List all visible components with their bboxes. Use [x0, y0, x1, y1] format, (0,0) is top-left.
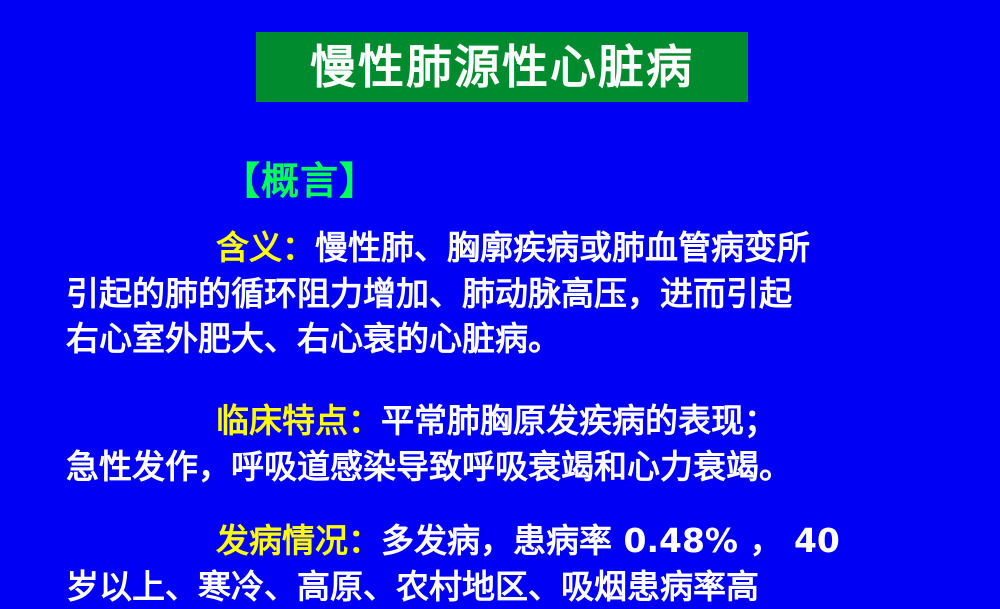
epidemiology-line-1: 发病情况：多发病，患病率 0.48% ， 40 [66, 518, 966, 564]
content-block-definition: 含义：慢性肺、胸廓疾病或肺血管病变所 引起的肺的循环阻力增加、肺动脉高压，进而引… [66, 225, 966, 362]
definition-separator: ： [282, 228, 315, 267]
clinical-line-1: 临床特点：平常肺胸原发疾病的表现； [66, 398, 966, 444]
definition-line-3: 右心室外肥大、右心衰的心脏病。 [66, 316, 966, 362]
clinical-lead: 临床特点 [216, 401, 348, 440]
epidemiology-separator: ： [348, 521, 381, 560]
content-block-epidemiology: 发病情况：多发病，患病率 0.48% ， 40 岁以上、寒冷、高原、农村地区、吸… [66, 518, 966, 609]
epidemiology-text-1: 多发病，患病率 0.48% ， 40 [381, 521, 840, 560]
definition-line-1: 含义：慢性肺、胸廓疾病或肺血管病变所 [66, 225, 966, 271]
clinical-text-1: 平常肺胸原发疾病的表现； [381, 401, 777, 440]
epidemiology-lead: 发病情况 [216, 521, 348, 560]
clinical-separator: ： [348, 401, 381, 440]
definition-lead: 含义 [216, 228, 282, 267]
slide-title: 慢性肺源性心脏病 [310, 44, 694, 90]
content-block-clinical-features: 临床特点：平常肺胸原发疾病的表现； 急性发作，呼吸道感染导致呼吸衰竭和心力衰竭。 [66, 398, 966, 489]
definition-line-2: 引起的肺的循环阻力增加、肺动脉高压，进而引起 [66, 271, 966, 317]
section-heading: 【概言】 [222, 150, 378, 205]
slide-title-box: 慢性肺源性心脏病 [256, 32, 748, 102]
epidemiology-line-2: 岁以上、寒冷、高原、农村地区、吸烟患病率高 [66, 564, 966, 609]
clinical-line-2: 急性发作，呼吸道感染导致呼吸衰竭和心力衰竭。 [66, 444, 966, 490]
definition-text-1: 慢性肺、胸廓疾病或肺血管病变所 [315, 228, 810, 267]
slide-canvas: 慢性肺源性心脏病 【概言】 含义：慢性肺、胸廓疾病或肺血管病变所 引起的肺的循环… [0, 0, 1000, 600]
